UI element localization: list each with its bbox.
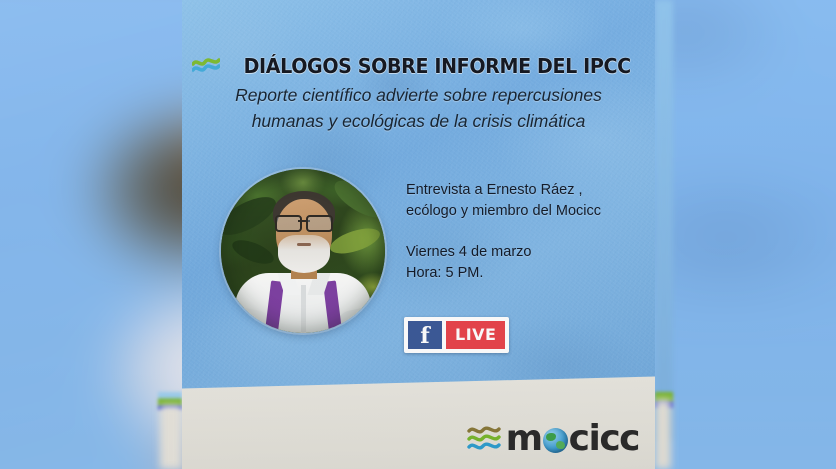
mocicc-wave-icon bbox=[467, 424, 501, 455]
mocicc-wordmark: mcicc bbox=[506, 421, 639, 457]
page-title: DIÁLOGOS SOBRE INFORME DEL IPCC bbox=[243, 54, 630, 78]
guest-portrait bbox=[221, 169, 385, 333]
subtitle-line-2: humanas y ecológicas de la crisis climát… bbox=[196, 108, 641, 134]
details-spacer bbox=[406, 222, 641, 242]
event-details: Entrevista a Ernesto Ráez , ecólogo y mi… bbox=[406, 180, 641, 284]
wordmark-prefix: m bbox=[506, 418, 542, 459]
facebook-icon[interactable]: f bbox=[408, 321, 442, 349]
globe-icon bbox=[543, 428, 568, 453]
facebook-glyph: f bbox=[420, 325, 429, 347]
event-time: Hora: 5 PM. bbox=[406, 263, 641, 284]
backdrop-right-blur bbox=[655, 0, 836, 469]
event-date: Viernes 4 de marzo bbox=[406, 242, 641, 263]
wordmark-suffix: cicc bbox=[569, 418, 639, 459]
poster: DIÁLOGOS SOBRE INFORME DEL IPCC Reporte … bbox=[182, 0, 655, 469]
wave-icon bbox=[192, 56, 220, 76]
guest-line-2: ecólogo y miembro del Mocicc bbox=[406, 201, 641, 222]
headline-row: DIÁLOGOS SOBRE INFORME DEL IPCC bbox=[182, 54, 655, 78]
live-label: LIVE bbox=[455, 327, 496, 343]
facebook-live-badge[interactable]: f LIVE bbox=[404, 317, 509, 353]
backdrop-right-footer-band bbox=[655, 399, 671, 469]
backdrop-right-edge bbox=[655, 0, 673, 440]
backdrop-left-blur bbox=[0, 0, 182, 469]
video-frame: DIÁLOGOS SOBRE INFORME DEL IPCC Reporte … bbox=[0, 0, 836, 469]
live-label-box: LIVE bbox=[446, 321, 505, 349]
portrait-vignette bbox=[221, 169, 385, 333]
guest-line-1: Entrevista a Ernesto Ráez , bbox=[406, 180, 641, 201]
backdrop-right bbox=[655, 0, 836, 469]
backdrop-left-footer-band bbox=[160, 405, 182, 469]
backdrop-left bbox=[0, 0, 182, 469]
mocicc-logo: mcicc bbox=[467, 421, 639, 457]
subtitle-line-1: Reporte científico advierte sobre reperc… bbox=[196, 82, 641, 108]
subtitle: Reporte científico advierte sobre reperc… bbox=[196, 82, 641, 134]
